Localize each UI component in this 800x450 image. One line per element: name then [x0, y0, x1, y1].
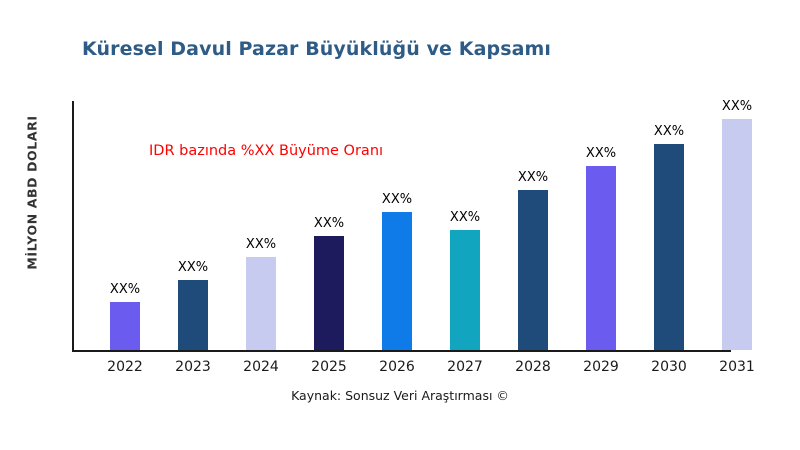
bar-value-label: XX%	[518, 170, 548, 185]
bar-rect[interactable]	[450, 230, 480, 350]
source-note: Kaynak: Sonsuz Veri Araştırması ©	[0, 388, 800, 403]
x-tick-2026: 2026	[367, 359, 427, 375]
bar-2025[interactable]: XX%	[314, 236, 344, 350]
bar-rect[interactable]	[654, 144, 684, 350]
bar-value-label: XX%	[586, 146, 616, 161]
bar-rect[interactable]	[586, 166, 616, 350]
x-tick-2029: 2029	[571, 359, 631, 375]
bar-2029[interactable]: XX%	[586, 166, 616, 350]
x-axis-line	[72, 350, 731, 352]
x-tick-2023: 2023	[163, 359, 223, 375]
x-tick-2031: 2031	[707, 359, 767, 375]
bar-2024[interactable]: XX%	[246, 257, 276, 350]
bar-rect[interactable]	[518, 190, 548, 350]
bar-rect[interactable]	[314, 236, 344, 350]
bar-value-label: XX%	[450, 210, 480, 225]
x-tick-2030: 2030	[639, 359, 699, 375]
bar-rect[interactable]	[722, 119, 752, 350]
bar-value-label: XX%	[246, 237, 276, 252]
bar-value-label: XX%	[178, 260, 208, 275]
bar-2031[interactable]: XX%	[722, 119, 752, 350]
bar-value-label: XX%	[314, 216, 344, 231]
x-tick-2022: 2022	[95, 359, 155, 375]
bar-value-label: XX%	[654, 124, 684, 139]
bar-2027[interactable]: XX%	[450, 230, 480, 350]
bar-rect[interactable]	[110, 302, 140, 350]
plot-area: IDR bazında %XX Büyüme Oranı XX%XX%XX%XX…	[72, 101, 800, 351]
x-tick-2028: 2028	[503, 359, 563, 375]
bar-rect[interactable]	[246, 257, 276, 350]
bar-value-label: XX%	[722, 99, 752, 114]
x-tick-2025: 2025	[299, 359, 359, 375]
growth-rate-annotation: IDR bazında %XX Büyüme Oranı	[149, 143, 383, 159]
y-axis-line	[72, 101, 74, 351]
chart-title: Küresel Davul Pazar Büyüklüğü ve Kapsamı	[82, 38, 551, 60]
bar-value-label: XX%	[382, 192, 412, 207]
bar-2026[interactable]: XX%	[382, 212, 412, 350]
bar-rect[interactable]	[178, 280, 208, 350]
bar-2023[interactable]: XX%	[178, 280, 208, 350]
x-tick-2027: 2027	[435, 359, 495, 375]
bar-2022[interactable]: XX%	[110, 302, 140, 350]
bar-2030[interactable]: XX%	[654, 144, 684, 350]
bar-2028[interactable]: XX%	[518, 190, 548, 350]
bar-chart-figure: Küresel Davul Pazar Büyüklüğü ve Kapsamı…	[0, 0, 800, 450]
bar-value-label: XX%	[110, 282, 140, 297]
y-axis-label: MİLYON ABD DOLARI	[25, 83, 40, 303]
x-tick-2024: 2024	[231, 359, 291, 375]
bar-rect[interactable]	[382, 212, 412, 350]
